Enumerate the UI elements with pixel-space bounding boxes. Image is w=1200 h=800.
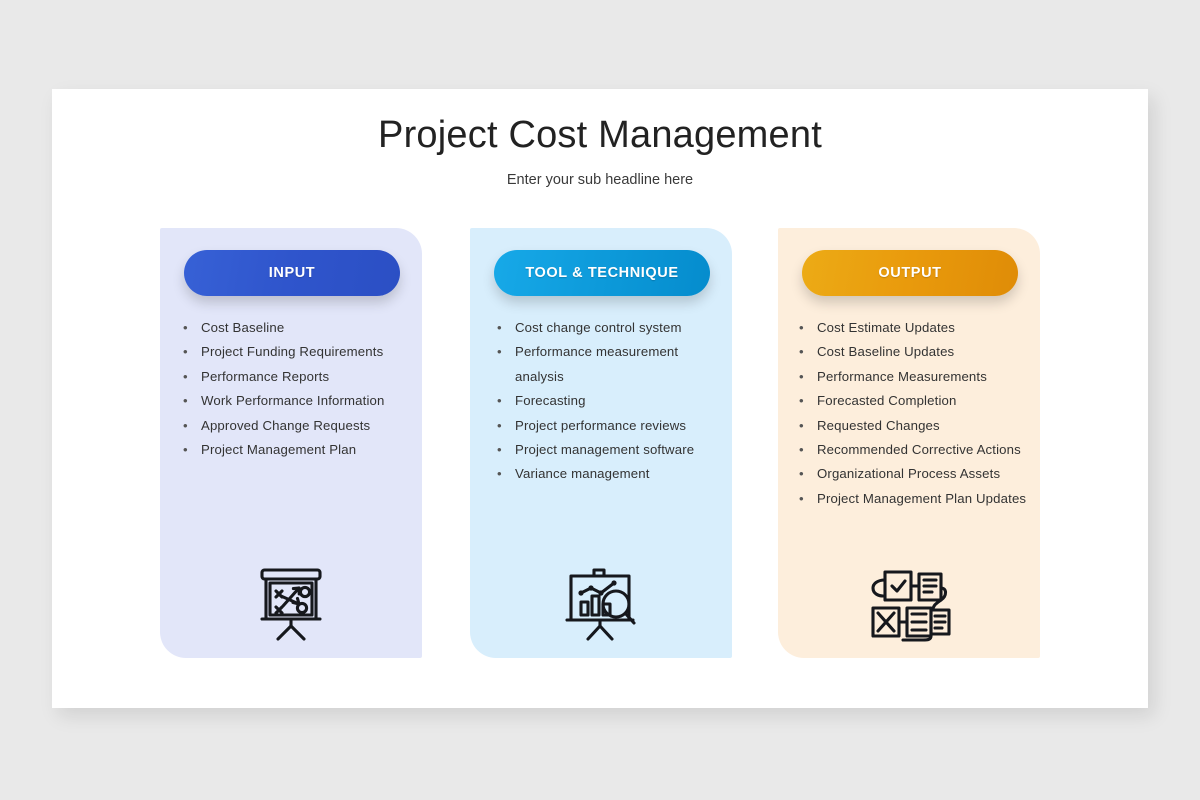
list-item-label: Requested Changes — [817, 418, 940, 433]
bullet-marker-icon: • — [799, 389, 804, 413]
column-icon-output — [778, 552, 1040, 642]
list-item-label: Variance management — [515, 466, 650, 481]
column-card-tool-and-technique[interactable]: TOOL & TECHNIQUE • Cost change control s… — [470, 228, 732, 658]
list-item: • Forecasted Completion — [798, 389, 1036, 413]
bullet-marker-icon: • — [183, 389, 188, 413]
list-item: • Project Management Plan — [182, 438, 412, 462]
bullet-marker-icon: • — [799, 340, 804, 364]
list-item-label: Project management software — [515, 442, 694, 457]
list-item-label: Project performance reviews — [515, 418, 686, 433]
strategy-board-icon — [254, 566, 328, 642]
list-item: • Organizational Process Assets — [798, 462, 1036, 486]
bullet-marker-icon: • — [183, 438, 188, 462]
bullet-marker-icon: • — [183, 340, 188, 364]
list-item-label: Recommended Corrective Actions — [817, 442, 1021, 457]
list-item: • Performance Measurements — [798, 365, 1036, 389]
bullet-marker-icon: • — [183, 316, 188, 340]
list-item: • Performance Reports — [182, 365, 412, 389]
bullet-marker-icon: • — [799, 316, 804, 340]
column-header-label: OUTPUT — [878, 265, 941, 281]
bullet-marker-icon: • — [497, 414, 502, 438]
list-item: • Cost Estimate Updates — [798, 316, 1036, 340]
column-header-tool-and-technique[interactable]: TOOL & TECHNIQUE — [494, 250, 710, 296]
list-item-label: Project Management Plan — [201, 442, 356, 457]
bullet-marker-icon: • — [799, 487, 804, 511]
list-item: • Cost Baseline Updates — [798, 340, 1036, 364]
bullet-marker-icon: • — [799, 365, 804, 389]
column-header-label: TOOL & TECHNIQUE — [525, 265, 678, 281]
list-item: • Recommended Corrective Actions — [798, 438, 1036, 462]
bullet-marker-icon: • — [497, 438, 502, 462]
list-item-label: Project Funding Requirements — [201, 344, 383, 359]
list-item: • Variance management — [496, 462, 726, 486]
slide-surface: Project Cost Management Enter your sub h… — [52, 89, 1148, 708]
bullet-marker-icon: • — [183, 414, 188, 438]
bullet-list-input: • Cost Baseline • Project Funding Requir… — [182, 316, 412, 462]
list-item-label: Performance Measurements — [817, 369, 987, 384]
list-item: • Work Performance Information — [182, 389, 412, 413]
list-item-label: Performance measurement analysis — [515, 344, 678, 383]
columns-container: INPUT • Cost Baseline • Project Funding … — [52, 89, 1148, 708]
list-item-label: Performance Reports — [201, 369, 329, 384]
list-item: • Cost change control system — [496, 316, 726, 340]
list-item-label: Cost Baseline — [201, 320, 284, 335]
bullet-marker-icon: • — [497, 340, 502, 364]
column-card-output[interactable]: OUTPUT • Cost Estimate Updates • Cost Ba… — [778, 228, 1040, 658]
list-item: • Project management software — [496, 438, 726, 462]
list-item: • Performance measurement analysis — [496, 340, 726, 389]
list-item: • Project Management Plan Updates — [798, 487, 1036, 511]
column-icon-input — [160, 552, 422, 642]
list-item-label: Cost change control system — [515, 320, 682, 335]
list-item-label: Organizational Process Assets — [817, 466, 1000, 481]
list-item-label: Work Performance Information — [201, 393, 385, 408]
list-item: • Requested Changes — [798, 414, 1036, 438]
column-header-label: INPUT — [269, 265, 316, 281]
column-header-input[interactable]: INPUT — [184, 250, 400, 296]
chart-analysis-board-icon — [561, 566, 641, 642]
bullet-list-output: • Cost Estimate Updates • Cost Baseline … — [798, 316, 1036, 511]
column-icon-tool-and-technique — [470, 552, 732, 642]
column-card-input[interactable]: INPUT • Cost Baseline • Project Funding … — [160, 228, 422, 658]
bullet-marker-icon: • — [799, 414, 804, 438]
list-item-label: Project Management Plan Updates — [817, 491, 1026, 506]
list-item: • Forecasting — [496, 389, 726, 413]
list-item: • Project Funding Requirements — [182, 340, 412, 364]
bullet-marker-icon: • — [497, 462, 502, 486]
list-item-label: Forecasting — [515, 393, 586, 408]
bullet-marker-icon: • — [799, 462, 804, 486]
list-item: • Project performance reviews — [496, 414, 726, 438]
bullet-list-tool-and-technique: • Cost change control system • Performan… — [496, 316, 726, 487]
bullet-marker-icon: • — [497, 316, 502, 340]
bullet-marker-icon: • — [497, 389, 502, 413]
list-item: • Cost Baseline — [182, 316, 412, 340]
list-item-label: Forecasted Completion — [817, 393, 957, 408]
list-item-label: Cost Estimate Updates — [817, 320, 955, 335]
list-item-label: Cost Baseline Updates — [817, 344, 954, 359]
column-header-output[interactable]: OUTPUT — [802, 250, 1018, 296]
slide-canvas: Project Cost Management Enter your sub h… — [0, 0, 1200, 800]
list-item: • Approved Change Requests — [182, 414, 412, 438]
bullet-marker-icon: • — [183, 365, 188, 389]
bullet-marker-icon: • — [799, 438, 804, 462]
document-workflow-icon — [867, 568, 951, 642]
list-item-label: Approved Change Requests — [201, 418, 370, 433]
